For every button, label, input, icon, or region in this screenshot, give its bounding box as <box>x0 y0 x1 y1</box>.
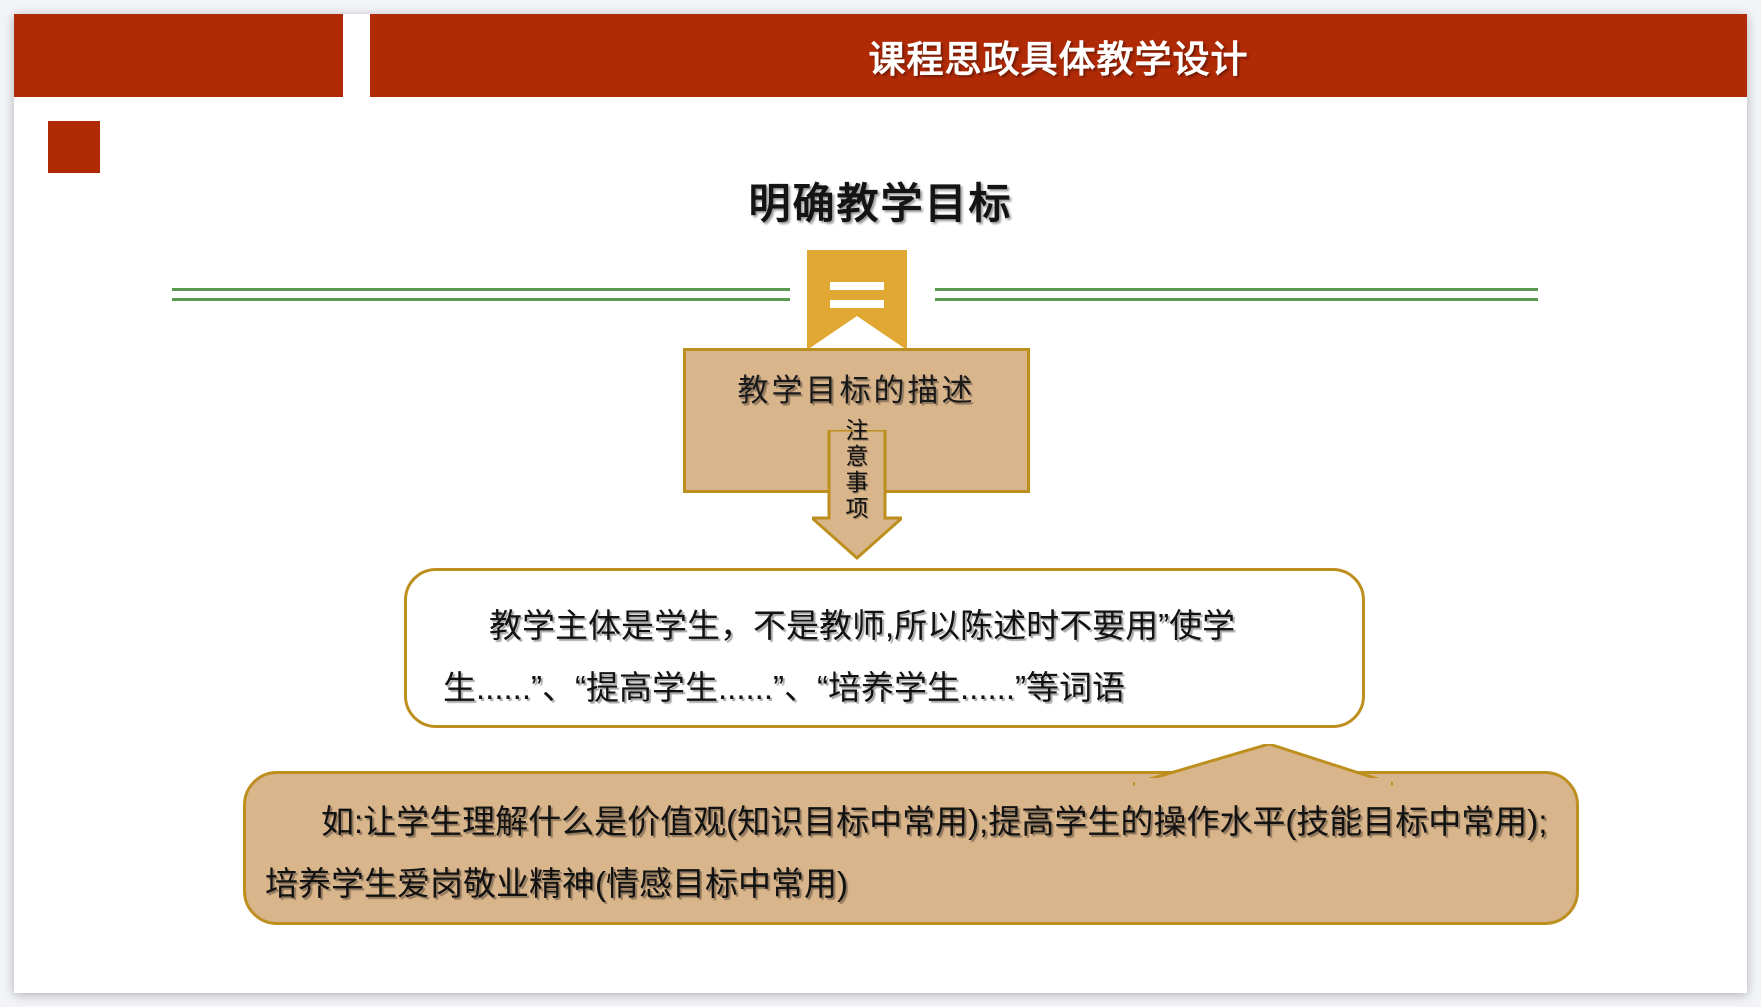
divider-right <box>935 288 1538 300</box>
example-box-text: 如:让学生理解什么是价值观(知识目标中常用);提高学生的操作水平(技能目标中常用… <box>265 791 1565 915</box>
arrow-label-char-3: 事 <box>812 470 902 496</box>
topic-box-label: 教学目标的描述 <box>686 365 1027 410</box>
divider-left <box>172 288 790 300</box>
example-box: 如:让学生理解什么是价值观(知识目标中常用);提高学生的操作水平(技能目标中常用… <box>243 745 1579 925</box>
note-box-text: 教学主体是学生，不是教师,所以陈述时不要用”使学生......”、“提高学生..… <box>443 595 1333 719</box>
slide-root: 课程思政具体教学设计 明确教学目标 教学目标的描述 注 意 事 项 教学主体是学… <box>0 0 1761 1007</box>
arrow-label-char-2: 意 <box>812 444 902 470</box>
ribbon-bar-lower <box>830 300 884 308</box>
ribbon-bar-upper <box>830 282 884 290</box>
red-square-bullet-icon <box>48 121 100 173</box>
header-bar: 课程思政具体教学设计 <box>370 14 1747 97</box>
page-title: 明确教学目标 <box>0 170 1761 231</box>
arrow-label-char-1: 注 <box>812 418 902 444</box>
example-box-tail <box>1133 744 1393 786</box>
down-arrow-label: 注 意 事 项 <box>812 418 902 522</box>
header-left-accent-block <box>14 14 343 97</box>
arrow-label-char-4: 项 <box>812 496 902 522</box>
slide-title: 课程思政具体教学设计 <box>370 14 1747 97</box>
note-box: 教学主体是学生，不是教师,所以陈述时不要用”使学生......”、“提高学生..… <box>404 568 1365 728</box>
